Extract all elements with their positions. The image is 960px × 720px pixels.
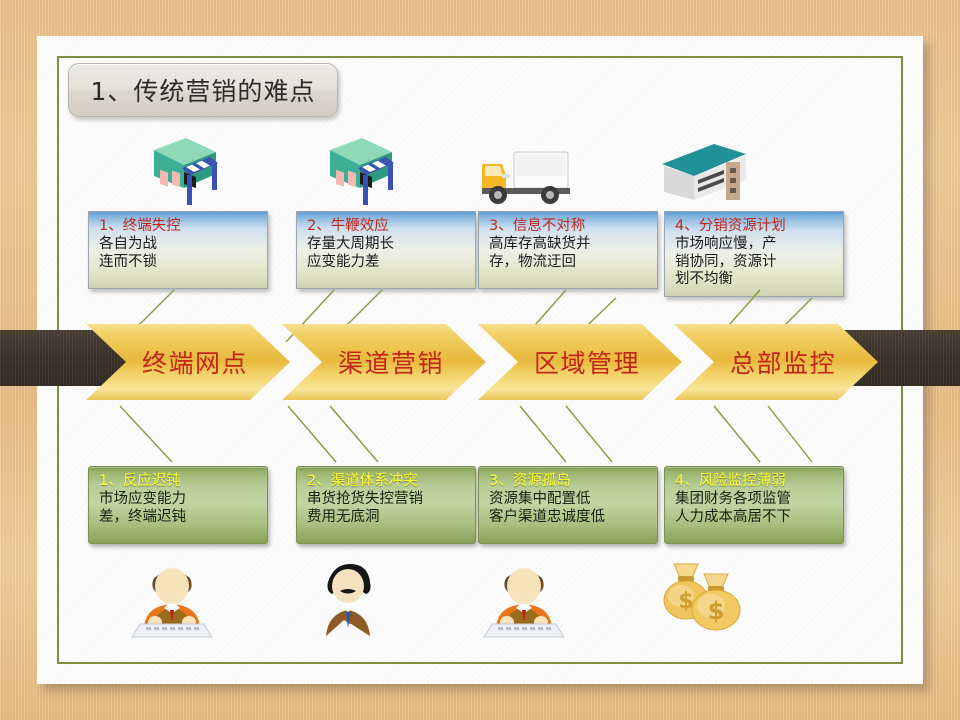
top-box-line: 连而不锁 (99, 254, 259, 272)
bottom-box[interactable]: 2、渠道体系冲突 串货抢货失控营销 费用无底洞 (296, 466, 476, 544)
top-box[interactable]: 4、分销资源计划 市场响应慢，产 销协同，资源计 划不均衡 (664, 211, 844, 297)
chevron-step[interactable]: 总部监控 (674, 324, 878, 400)
bottom-box[interactable]: 3、资源孤岛 资源集中配置低 客户渠道忠诚度低 (478, 466, 658, 544)
top-box-line: 各自为战 (99, 236, 259, 254)
top-box-heading: 4、分销资源计划 (675, 218, 835, 235)
top-box[interactable]: 2、牛鞭效应 存量大周期长 应变能力差 (296, 211, 476, 289)
bottom-box-heading: 2、渠道体系冲突 (307, 473, 467, 490)
bottom-icon-row: $ $ (86, 558, 876, 638)
chevron-step[interactable]: 终端网点 (86, 324, 290, 400)
storefront-icon (262, 128, 434, 208)
chevron-step[interactable]: 渠道营销 (282, 324, 486, 400)
svg-text:$: $ (708, 597, 725, 625)
bottom-box-heading: 1、反应迟钝 (99, 473, 259, 490)
office-worker-keyboard-icon (438, 558, 610, 638)
top-box-heading: 1、终端失控 (99, 218, 259, 235)
chevron-label: 终端网点 (86, 344, 290, 380)
storefront-icon (86, 128, 258, 208)
chevron-process-band: 终端网点 渠道营销 区域管理 总部监控 (0, 324, 960, 404)
chevron-label: 渠道营销 (282, 344, 486, 380)
bottom-box-line: 资源集中配置低 (489, 491, 649, 509)
money-bags-icon: $ $ (614, 558, 786, 638)
bottom-box[interactable]: 4、风险监控薄弱 集团财务各项监管 人力成本高居不下 (664, 466, 844, 544)
bottom-box-line: 串货抢货失控营销 (307, 491, 467, 509)
chevron-label: 总部监控 (674, 344, 878, 380)
chevron-label: 区域管理 (478, 344, 682, 380)
bottom-box[interactable]: 1、反应迟钝 市场应变能力 差，终端迟钝 (88, 466, 268, 544)
top-box-line: 划不均衡 (675, 271, 835, 289)
bottom-box-line: 人力成本高居不下 (675, 509, 835, 527)
top-icon-row (86, 128, 876, 208)
bottom-box-line: 集团财务各项监管 (675, 491, 835, 509)
bottom-box-line: 差，终端迟钝 (99, 509, 259, 527)
top-box-line: 存，物流迂回 (489, 254, 649, 272)
top-box-line: 销协同，资源计 (675, 254, 835, 272)
top-box[interactable]: 3、信息不对称 高库存高缺货并 存，物流迂回 (478, 211, 658, 289)
top-box-line: 存量大周期长 (307, 236, 467, 254)
top-box-line: 市场响应慢，产 (675, 236, 835, 254)
delivery-truck-icon (438, 128, 610, 208)
bottom-box-line: 客户渠道忠诚度低 (489, 509, 649, 527)
top-box-heading: 3、信息不对称 (489, 218, 649, 235)
bottom-box-line: 市场应变能力 (99, 491, 259, 509)
top-box-heading: 2、牛鞭效应 (307, 218, 467, 235)
page-title: 1、传统营销的难点 (91, 72, 316, 108)
bottom-box-line: 费用无底洞 (307, 509, 467, 527)
bottom-box-heading: 3、资源孤岛 (489, 473, 649, 490)
chevron-step[interactable]: 区域管理 (478, 324, 682, 400)
top-box-line: 应变能力差 (307, 254, 467, 272)
slide-canvas: 1、传统营销的难点 (0, 0, 960, 720)
bottom-box-heading: 4、风险监控薄弱 (675, 473, 835, 490)
top-box[interactable]: 1、终端失控 各自为战 连而不锁 (88, 211, 268, 289)
svg-text:$: $ (678, 589, 693, 614)
slide-title-plaque: 1、传统营销的难点 (68, 63, 338, 117)
warehouse-icon (614, 128, 786, 208)
top-box-line: 高库存高缺货并 (489, 236, 649, 254)
office-worker-keyboard-icon (86, 558, 258, 638)
businessman-mustache-icon (262, 558, 434, 638)
